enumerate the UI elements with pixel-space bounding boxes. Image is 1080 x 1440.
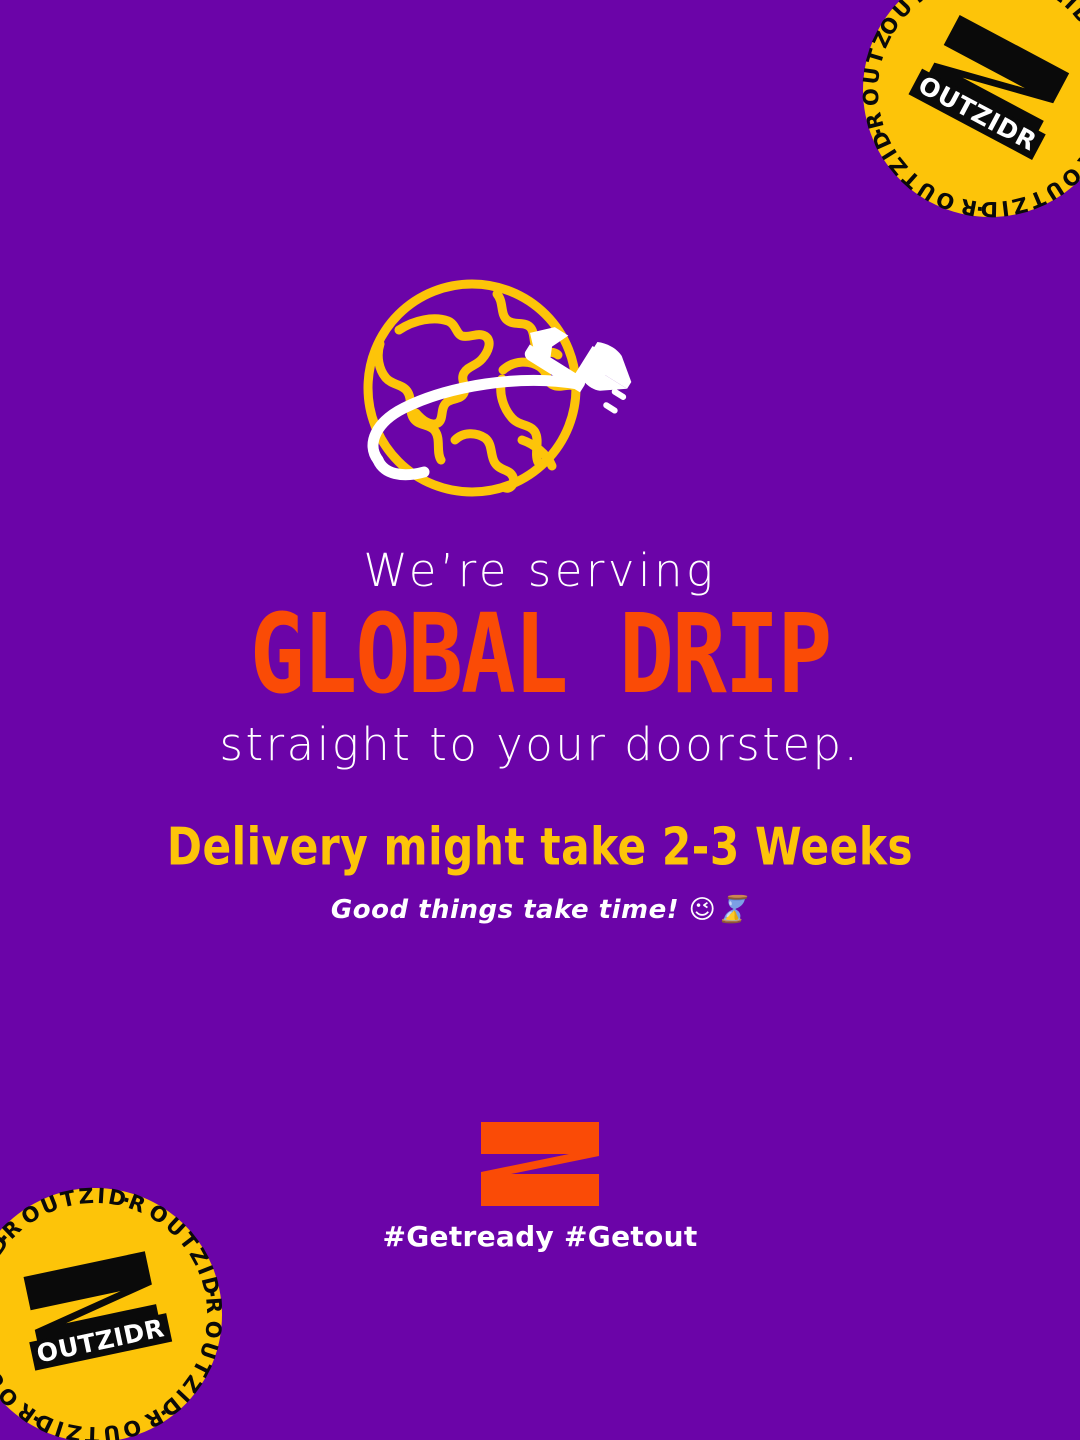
outzidr-seal-top-right: OUTZIDR · OUTZIDR · OUTZIDR · OUTZIDR · xyxy=(840,0,1080,240)
headline-copy-block: We’re serving GLOBAL DRIP straight to yo… xyxy=(0,548,1080,767)
outzidr-seal-bottom-left: OUTZIDR · OUTZIDR · OUTZIDR · OUTZIDR · xyxy=(0,1165,245,1440)
headline-line-2: GLOBAL DRIP xyxy=(0,591,1080,721)
delivery-headline: Delivery might take 2-3 Weeks xyxy=(0,819,1080,876)
seal-graphic-bottom-left: OUTZIDR · OUTZIDR · OUTZIDR · OUTZIDR · xyxy=(0,1165,245,1440)
headline-line-1: We’re serving xyxy=(0,548,1080,593)
outzidr-z-logo xyxy=(477,1120,603,1208)
globe-with-airplane-illustration xyxy=(352,272,712,512)
globe-airplane-graphic xyxy=(352,272,712,512)
promo-poster: OUTZIDR · OUTZIDR · OUTZIDR · OUTZIDR · xyxy=(0,0,1080,1440)
seal-graphic-top-right: OUTZIDR · OUTZIDR · OUTZIDR · OUTZIDR · xyxy=(840,0,1080,240)
headline-line-3: straight to your doorstep. xyxy=(0,722,1080,767)
airplane-icon xyxy=(517,306,645,415)
globe-continents xyxy=(378,294,575,488)
delivery-subtext: Good things take time! 😉⌛ xyxy=(0,895,1080,925)
delivery-note-block: Delivery might take 2-3 Weeks Good thing… xyxy=(0,822,1080,925)
